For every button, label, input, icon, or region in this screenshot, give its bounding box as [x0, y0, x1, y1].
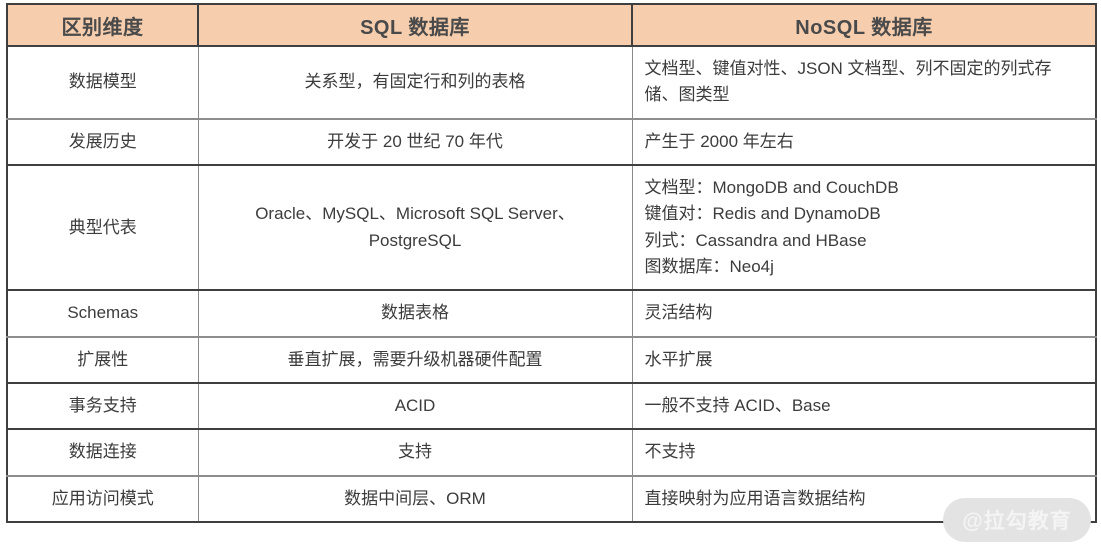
- sql-nosql-comparison-table: 区别维度 SQL 数据库 NoSQL 数据库 数据模型 关系型，有固定行和列的表…: [6, 3, 1097, 523]
- cell-sql: 垂直扩展，需要升级机器硬件配置: [198, 337, 632, 383]
- table-body: 数据模型 关系型，有固定行和列的表格 文档型、键值对性、JSON 文档型、列不固…: [7, 46, 1096, 522]
- cell-sql: Oracle、MySQL、Microsoft SQL Server、Postgr…: [198, 165, 632, 290]
- table-row: 数据模型 关系型，有固定行和列的表格 文档型、键值对性、JSON 文档型、列不固…: [7, 46, 1096, 119]
- cell-dimension: 应用访问模式: [7, 476, 198, 522]
- cell-dimension: Schemas: [7, 290, 198, 336]
- cell-nosql: 灵活结构: [632, 290, 1096, 336]
- table-row: 扩展性 垂直扩展，需要升级机器硬件配置 水平扩展: [7, 337, 1096, 383]
- table-row: Schemas 数据表格 灵活结构: [7, 290, 1096, 336]
- cell-sql: 数据表格: [198, 290, 632, 336]
- table-header-row: 区别维度 SQL 数据库 NoSQL 数据库: [7, 4, 1096, 46]
- cell-sql: 关系型，有固定行和列的表格: [198, 46, 632, 119]
- cell-dimension: 数据连接: [7, 429, 198, 475]
- cell-dimension: 典型代表: [7, 165, 198, 290]
- cell-dimension: 事务支持: [7, 383, 198, 429]
- table-row: 事务支持 ACID 一般不支持 ACID、Base: [7, 383, 1096, 429]
- table-row: 发展历史 开发于 20 世纪 70 年代 产生于 2000 年左右: [7, 119, 1096, 165]
- table-header: 区别维度 SQL 数据库 NoSQL 数据库: [7, 4, 1096, 46]
- table-row: 应用访问模式 数据中间层、ORM 直接映射为应用语言数据结构: [7, 476, 1096, 522]
- table-row: 典型代表 Oracle、MySQL、Microsoft SQL Server、P…: [7, 165, 1096, 290]
- watermark-label: @拉勾教育: [962, 505, 1071, 535]
- cell-nosql: 不支持: [632, 429, 1096, 475]
- cell-dimension: 扩展性: [7, 337, 198, 383]
- cell-nosql: 产生于 2000 年左右: [632, 119, 1096, 165]
- column-header-sql: SQL 数据库: [198, 4, 632, 46]
- cell-nosql: 一般不支持 ACID、Base: [632, 383, 1096, 429]
- column-header-nosql: NoSQL 数据库: [632, 4, 1096, 46]
- cell-dimension: 数据模型: [7, 46, 198, 119]
- cell-sql: ACID: [198, 383, 632, 429]
- cell-nosql: 文档型：MongoDB and CouchDB 键值对：Redis and Dy…: [632, 165, 1096, 290]
- column-header-dimension: 区别维度: [7, 4, 198, 46]
- cell-nosql: 文档型、键值对性、JSON 文档型、列不固定的列式存储、图类型: [632, 46, 1096, 119]
- cell-sql: 支持: [198, 429, 632, 475]
- watermark-badge: @拉勾教育: [943, 498, 1091, 542]
- cell-sql: 开发于 20 世纪 70 年代: [198, 119, 632, 165]
- table-row: 数据连接 支持 不支持: [7, 429, 1096, 475]
- cell-nosql: 水平扩展: [632, 337, 1096, 383]
- cell-dimension: 发展历史: [7, 119, 198, 165]
- cell-sql: 数据中间层、ORM: [198, 476, 632, 522]
